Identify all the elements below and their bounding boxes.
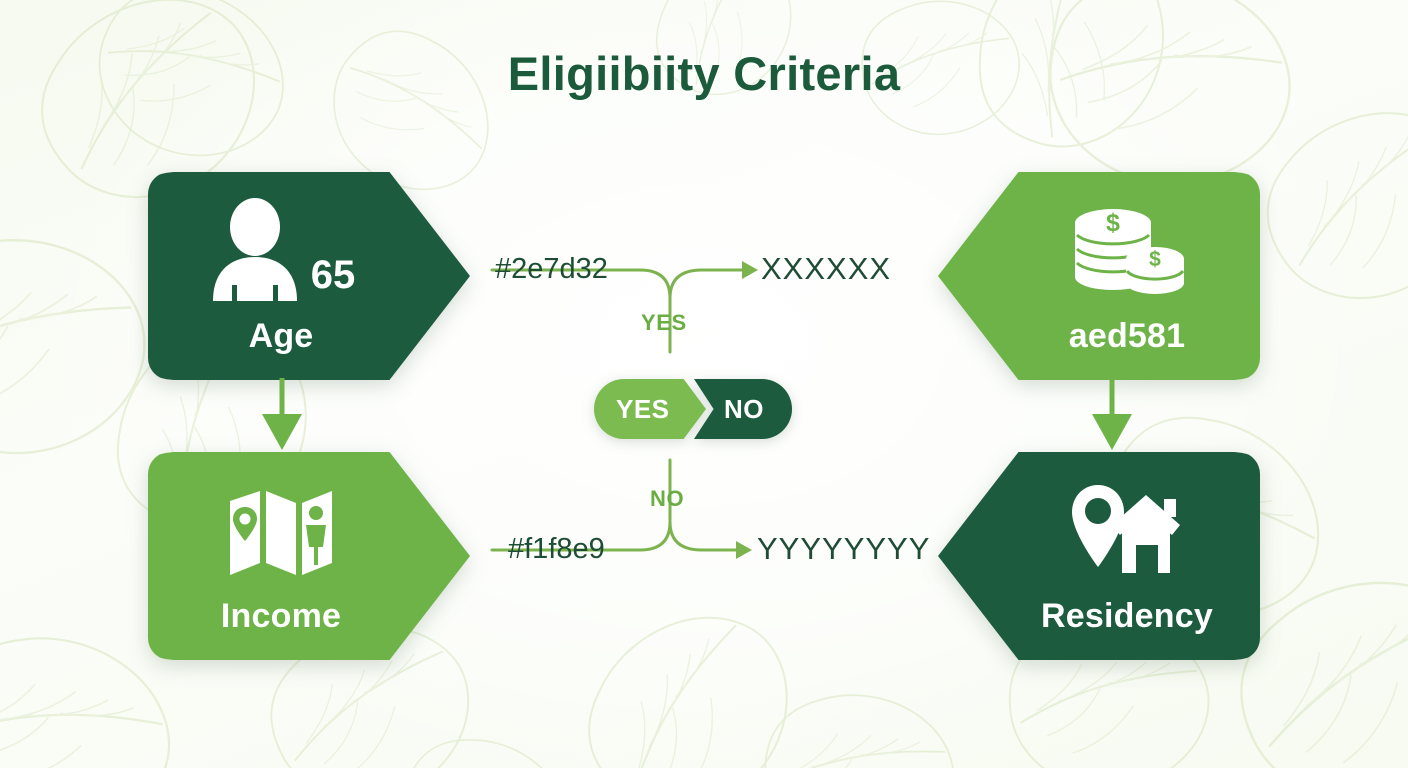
branch-target-label-bottom: YYYYYYYY: [757, 531, 930, 567]
pin-house-icon: [1068, 481, 1186, 581]
coins-dollar-icon: $ $: [1067, 201, 1187, 301]
toggle-option-yes[interactable]: YES: [594, 379, 706, 439]
branch-source-label-bottom: #f1f8e9: [508, 533, 605, 566]
card-value-age: 65: [311, 255, 356, 295]
card-content: 65 Age: [148, 172, 470, 380]
card-label-income: Income: [221, 597, 341, 636]
card-icon-row: [1068, 477, 1186, 581]
down-arrow-icon-right: [1088, 378, 1136, 454]
card-label-money: aed581: [1069, 317, 1186, 356]
card-content: Income: [148, 452, 470, 660]
svg-text:$: $: [1106, 209, 1120, 237]
criteria-card-money[interactable]: $ $ aed581: [938, 172, 1260, 380]
infographic-canvas: Eligiibiity Criteria 65 Age: [0, 0, 1408, 768]
criteria-card-income[interactable]: Income: [148, 452, 470, 660]
yes-no-toggle[interactable]: YES NO: [594, 379, 792, 439]
branch-word-yes: YES: [641, 310, 687, 336]
criteria-card-age[interactable]: 65 Age: [148, 172, 470, 380]
branch-word-no: NO: [650, 486, 684, 512]
card-icon-row: $ $: [1067, 197, 1187, 301]
card-content: $ $ aed581: [938, 172, 1260, 380]
card-icon-row: 65: [207, 197, 356, 301]
card-content: Residency: [938, 452, 1260, 660]
svg-text:$: $: [1149, 248, 1161, 271]
branch-source-label-top: #2e7d32: [495, 253, 608, 286]
card-icon-row: [226, 477, 336, 581]
map-person-icon: [226, 485, 336, 581]
page-title: Eligiibiity Criteria: [0, 46, 1408, 101]
branch-target-label-top: XXXXXX: [761, 251, 891, 287]
criteria-card-residency[interactable]: Residency: [938, 452, 1260, 660]
card-label-residency: Residency: [1041, 597, 1213, 636]
person-icon: [207, 197, 303, 301]
card-label-age: Age: [249, 317, 314, 356]
down-arrow-icon-left: [258, 378, 306, 454]
toggle-option-no[interactable]: NO: [694, 379, 792, 439]
